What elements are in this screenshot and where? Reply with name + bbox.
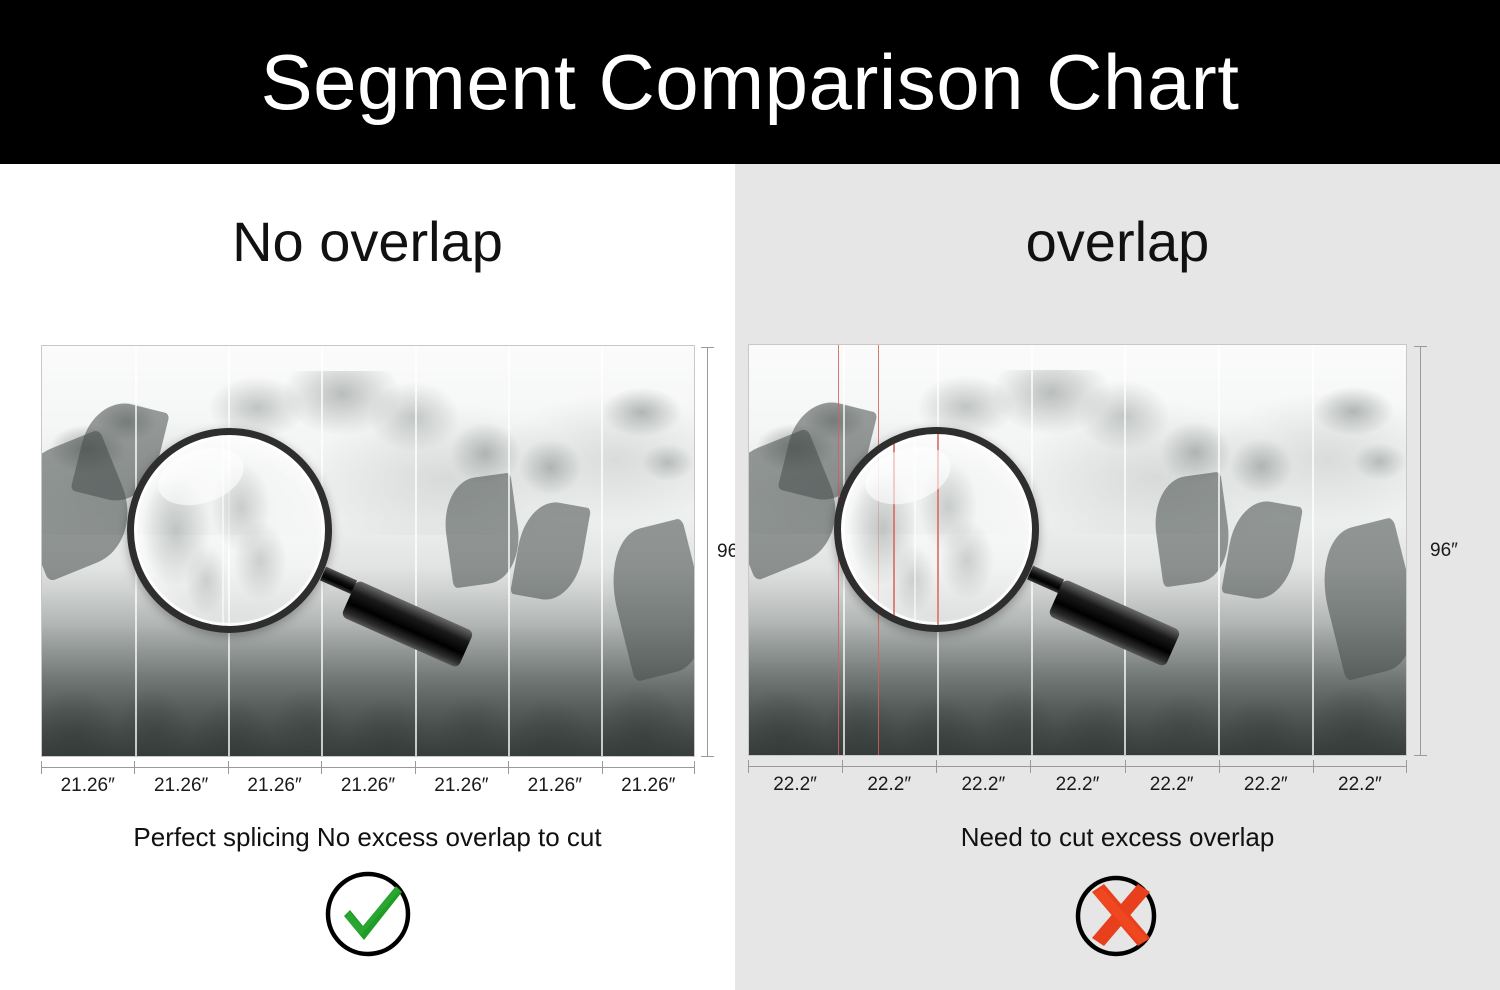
dimension-tick: [748, 760, 749, 773]
caption-no-overlap: Perfect splicing No excess overlap to cu…: [0, 824, 735, 850]
segment-label: 22.2″: [1030, 774, 1124, 796]
overlap-marker: [838, 345, 839, 755]
segment-seam: [1218, 345, 1220, 755]
segment-seam: [508, 346, 510, 756]
segment-labels-overlap: 22.2″ 22.2″ 22.2″ 22.2″ 22.2″ 22.2″ 22.2…: [748, 774, 1407, 796]
segment-seam: [228, 346, 230, 756]
panel-no-overlap: No overlap: [0, 164, 735, 990]
segment-seam: [601, 346, 603, 756]
dimension-tick: [228, 761, 229, 774]
dimension-tick: [1313, 760, 1314, 773]
dimension-tick: [41, 761, 42, 774]
panel-overlap: overlap: [735, 164, 1500, 990]
mural-figure-no-overlap: 96″ 21.26″ 21.26″ 21.26″ 21.26″ 21.26″ 2…: [41, 345, 695, 757]
width-dimension-line-no-overlap: [41, 767, 695, 768]
caption-overlap: Need to cut excess overlap: [735, 824, 1500, 850]
dimension-tick: [701, 756, 714, 757]
dimension-tick: [842, 760, 843, 773]
height-dimension-line-no-overlap: [707, 347, 708, 757]
segment-label: 21.26″: [321, 775, 414, 797]
check-circle-icon: [320, 866, 416, 962]
dimension-tick: [1414, 755, 1427, 756]
segment-label: 22.2″: [842, 774, 936, 796]
segment-seam: [1312, 345, 1314, 755]
height-label-overlap: 96″: [1430, 540, 1458, 562]
segment-label: 22.2″: [748, 774, 842, 796]
segment-label: 22.2″: [1313, 774, 1407, 796]
mural-figure-overlap: 96″ 22.2″ 22.2″ 22.2″ 22.2″ 22.2″ 22.2″ …: [748, 344, 1407, 756]
dimension-tick: [321, 761, 322, 774]
segment-seam: [843, 345, 845, 755]
segment-seam: [1124, 345, 1126, 755]
page-title: Segment Comparison Chart: [261, 43, 1240, 121]
segment-seams-overlap: [749, 345, 1406, 755]
dimension-tick: [1219, 760, 1220, 773]
width-dimension-line-overlap: [748, 766, 1407, 767]
dimension-tick: [936, 760, 937, 773]
dimension-tick: [1406, 760, 1407, 773]
segment-label: 21.26″: [415, 775, 508, 797]
height-dimension-line-overlap: [1420, 346, 1421, 756]
verdict-overlap: [735, 866, 1500, 962]
segment-label: 21.26″: [602, 775, 695, 797]
panel-heading-overlap: overlap: [735, 214, 1500, 270]
segment-seam: [135, 346, 137, 756]
comparison-panels: No overlap: [0, 164, 1500, 990]
segment-label: 22.2″: [936, 774, 1030, 796]
segment-label: 21.26″: [41, 775, 134, 797]
verdict-no-overlap: [0, 866, 735, 962]
dimension-tick: [134, 761, 135, 774]
segment-label: 21.26″: [508, 775, 601, 797]
segment-label: 21.26″: [134, 775, 227, 797]
segment-label: 22.2″: [1125, 774, 1219, 796]
panel-heading-no-overlap: No overlap: [0, 214, 735, 270]
dimension-tick: [701, 347, 714, 348]
dimension-tick: [1414, 346, 1427, 347]
cross-circle-icon: [1070, 866, 1166, 962]
dimension-tick: [415, 761, 416, 774]
dimension-tick: [508, 761, 509, 774]
segment-label: 21.26″: [228, 775, 321, 797]
segment-seam: [321, 346, 323, 756]
segment-seam: [1031, 345, 1033, 755]
dimension-tick: [694, 761, 695, 774]
mural-image-overlap: [748, 344, 1407, 756]
segment-seams-no-overlap: [42, 346, 694, 756]
title-banner: Segment Comparison Chart: [0, 0, 1500, 164]
overlap-marker: [878, 345, 879, 755]
segment-labels-no-overlap: 21.26″ 21.26″ 21.26″ 21.26″ 21.26″ 21.26…: [41, 775, 695, 797]
dimension-tick: [1030, 760, 1031, 773]
mural-image-no-overlap: [41, 345, 695, 757]
segment-label: 22.2″: [1219, 774, 1313, 796]
segment-seam: [415, 346, 417, 756]
dimension-tick: [602, 761, 603, 774]
segment-seam: [937, 345, 939, 755]
dimension-tick: [1125, 760, 1126, 773]
